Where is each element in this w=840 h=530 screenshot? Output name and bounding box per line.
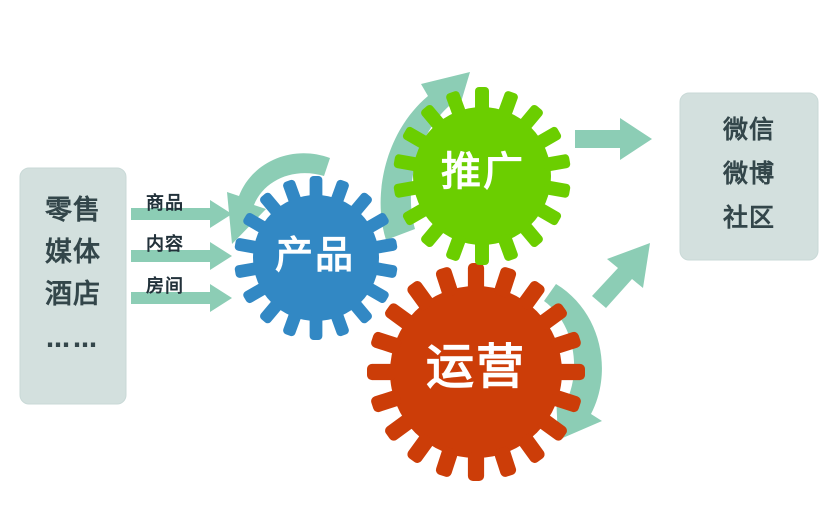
target-line-0: 微信 xyxy=(680,108,818,152)
flow-label-room: 房间 xyxy=(146,272,184,298)
flow-label-goods: 商品 xyxy=(146,189,184,215)
source-ellipsis: …… xyxy=(20,316,126,362)
target-panel-text: 微信 微博 社区 xyxy=(680,108,818,240)
source-line-1: 媒体 xyxy=(20,232,126,274)
source-line-0: 零售 xyxy=(20,190,126,232)
gear-label-operation: 运营 xyxy=(396,338,556,396)
source-panel-text: 零售 媒体 酒店 …… xyxy=(20,190,126,362)
gear-label-product: 产品 xyxy=(245,232,385,278)
target-line-2: 社区 xyxy=(680,196,818,240)
diagram-canvas: 零售 媒体 酒店 …… 微信 微博 社区 商品 内容 房间 产品 推广 运营 xyxy=(0,0,840,530)
diagram-svg xyxy=(0,0,840,530)
arrow-operation-to-channels xyxy=(592,243,650,308)
gear-label-promotion: 推广 xyxy=(410,148,556,196)
target-line-1: 微博 xyxy=(680,152,818,196)
source-line-2: 酒店 xyxy=(20,274,126,316)
arrow-promotion-to-channels xyxy=(575,118,652,160)
flow-label-content: 内容 xyxy=(146,230,184,256)
